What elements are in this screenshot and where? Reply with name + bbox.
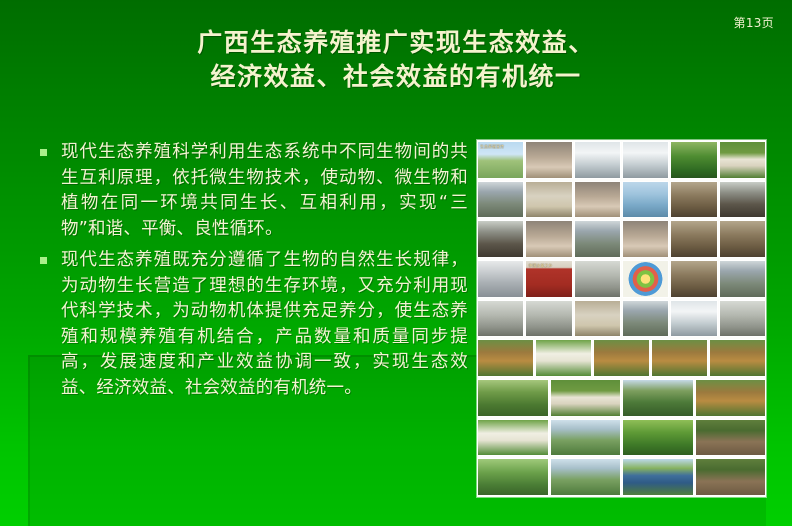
square-bullet-icon xyxy=(40,149,47,156)
photo-sheep-barn-indoor xyxy=(574,300,621,338)
photo-technician-mixing xyxy=(670,300,717,338)
photo-village-poultry-yard xyxy=(695,379,767,417)
photo-feed-mixing-tanks xyxy=(477,260,524,298)
photo-sheep-flock-pen xyxy=(525,181,572,219)
photo-duck-flock-large xyxy=(550,379,622,417)
photo-reservoir-landscape xyxy=(550,458,622,496)
body-content-column: 现代生态养殖科学利用生态系统中不同生物间的共生互利原理，依托微生物技术，使动物、… xyxy=(36,140,468,407)
collage-row xyxy=(477,180,766,220)
photo-chicken-flock-hillside xyxy=(651,339,708,377)
bullet-paragraph-1: 现代生态养殖科学利用生态系统中不同生物间的共生互利原理，依托微生物技术，使动物、… xyxy=(61,140,468,242)
photo-duck-herd-riverbank xyxy=(550,419,622,457)
photo-fish-pond-feeding xyxy=(622,181,669,219)
photo-caption: 中国水禽之乡 xyxy=(528,263,569,268)
photo-pig-barn-aerial xyxy=(525,141,572,179)
photo-ecology-wheel-chart xyxy=(622,260,669,298)
list-item: 现代生态养殖科学利用生态系统中不同生物间的共生互利原理，依托微生物技术，使动物、… xyxy=(36,140,468,242)
photo-chicken-in-bamboo xyxy=(709,339,766,377)
photo-fattening-pigs xyxy=(574,181,621,219)
square-bullet-icon xyxy=(40,257,47,264)
photo-layer-cage-hall xyxy=(525,300,572,338)
page-title: 广西生态养殖推广实现生态效益、 经济效益、社会效益的有机统一 xyxy=(0,26,792,94)
collage-row xyxy=(477,338,766,378)
photo-geese-on-grass xyxy=(535,339,592,377)
photo-caption: 生态养殖宣传 xyxy=(480,144,521,149)
photo-pig-house-interior xyxy=(477,181,524,219)
bullet-paragraph-2: 现代生态养殖既充分遵循了生物的自然生长规律，为动物生长营造了理想的生存环境，又充… xyxy=(61,248,468,401)
photo-manure-compost xyxy=(670,181,717,219)
photo-green-pasture xyxy=(477,458,549,496)
photo-cattle-shed xyxy=(477,220,524,258)
photo-cattle-in-pasture xyxy=(695,419,767,457)
photo-blue-roof-shed xyxy=(622,300,669,338)
photo-duck-flock-field xyxy=(719,141,766,179)
photo-staff-field-visit xyxy=(622,141,669,179)
photo-poultry-shed-line xyxy=(574,260,621,298)
collage-row xyxy=(477,418,766,458)
photo-empty-bedding-pen xyxy=(670,220,717,258)
photo-orchard-free-range xyxy=(477,379,549,417)
collage-row: 中国水禽之乡 xyxy=(477,259,766,299)
collage-row xyxy=(477,378,766,418)
title-line-2: 经济效益、社会效益的有机统一 xyxy=(0,60,792,94)
photo-piglet-nursery xyxy=(622,220,669,258)
photo-barn-exterior xyxy=(719,181,766,219)
photo-woodland-livestock xyxy=(695,458,767,496)
slide-canvas: 第13页 广西生态养殖推广实现生态效益、 经济效益、社会效益的有机统一 现代生态… xyxy=(0,0,792,526)
title-line-1: 广西生态养殖推广实现生态效益、 xyxy=(0,26,792,60)
collage-row xyxy=(477,219,766,259)
collage-row xyxy=(477,457,766,497)
photo-fermentation-bed xyxy=(719,220,766,258)
photo-white-coat-inspect xyxy=(574,141,621,179)
photo-corn-field-ducks xyxy=(622,419,694,457)
collage-row: 生态养殖宣传 xyxy=(477,140,766,180)
photo-hillside-chickens xyxy=(622,379,694,417)
photo-duck-house-interior xyxy=(719,300,766,338)
photo-rice-paddy-rows xyxy=(670,141,717,179)
photo-pig-feeding-line xyxy=(525,220,572,258)
photo-workers-walking xyxy=(719,260,766,298)
photo-eco-farm-banner: 生态养殖宣传 xyxy=(477,141,524,179)
photo-collage: 生态养殖宣传中国水禽之乡 xyxy=(477,140,766,497)
photo-technicians-visit xyxy=(574,220,621,258)
photo-free-range-chicken-woods xyxy=(477,339,534,377)
photo-chicken-yard xyxy=(593,339,650,377)
photo-eco-farm-3d-model xyxy=(622,458,694,496)
list-item: 现代生态养殖既充分遵循了生物的自然生长规律，为动物生长营造了理想的生存环境，又充… xyxy=(36,248,468,401)
photo-red-office-building: 中国水禽之乡 xyxy=(525,260,572,298)
collage-row xyxy=(477,299,766,339)
photo-manure-pit xyxy=(670,260,717,298)
photo-goose-in-grass xyxy=(477,419,549,457)
photo-cage-stack-empty xyxy=(477,300,524,338)
